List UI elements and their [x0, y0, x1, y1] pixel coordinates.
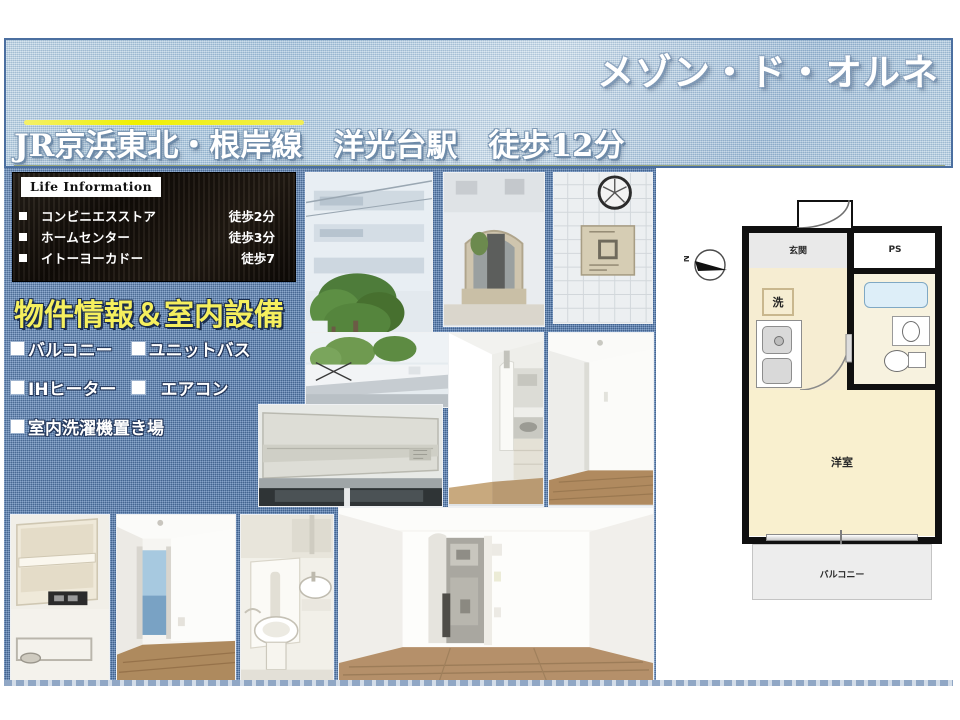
svg-text:N: N [684, 256, 691, 263]
balcony-sliding-door [766, 534, 918, 541]
photo-kitchen [448, 332, 544, 507]
checkbox-square-icon [10, 380, 25, 395]
floor-plan-panel: N 洗 [656, 168, 953, 686]
flyer-sheet: メゾン・ド・オルネ JR京浜東北・根岸線 洋光台駅 徒歩12分 空室・室内状況良… [0, 0, 960, 720]
label-balcony: バルコニー [820, 568, 865, 581]
washer-label: 洗 [773, 294, 784, 310]
wash-basin-icon [902, 321, 920, 342]
photo-balcony-view [305, 332, 453, 408]
life-information-title: Life Information [21, 177, 161, 197]
photo-wall-sign-clock [553, 172, 653, 324]
bullet-square-icon [19, 233, 27, 241]
bath-door-swing-icon [800, 334, 852, 390]
station-access-line: JR京浜東北・根岸線 洋光台駅 徒歩12分 [14, 120, 625, 165]
spec-label: 室内洗濯機置き場 [28, 414, 164, 439]
kitchen-image [449, 333, 543, 504]
bullet-square-icon [19, 254, 27, 262]
life-item-distance: 徒歩2分 [229, 206, 275, 225]
photo-building-exterior [305, 172, 433, 348]
toilet-tank-icon [908, 352, 926, 368]
list-item: ホームセンター 徒歩3分 [19, 226, 289, 247]
header-banner: メゾン・ド・オルネ JR京浜東北・根岸線 洋光台駅 徒歩12分 空室・室内状況良… [4, 38, 953, 168]
wall-sign-clock-image [554, 173, 652, 322]
entry-door-swing-icon [797, 200, 873, 228]
spec-label: ユニットバス [149, 336, 251, 361]
photo-room-with-balcony-door [116, 514, 236, 684]
life-information-box: Life Information コンビニエスストア 徒歩2分 ホームセンター … [12, 172, 296, 282]
building-exterior-image [306, 173, 432, 346]
kitchen-drain-icon [774, 336, 784, 346]
label-genkan: 玄関 [789, 244, 807, 257]
building-name: メゾン・ド・オルネ [597, 42, 939, 96]
spec-item-ih-heater: IHヒーター [10, 375, 117, 400]
spec-item-unit-bath: ユニットバス [131, 336, 251, 361]
toilet-bowl-icon [884, 350, 910, 372]
life-item-name: イトーヨーカドー [41, 248, 143, 267]
life-item-name: コンビニエスストア [41, 206, 156, 225]
living-room-wide-image [339, 508, 653, 684]
washer-shelf-image [11, 515, 109, 682]
spec-row: 室内洗濯機置き場 [10, 414, 300, 439]
entrance-archway-image [444, 173, 544, 325]
life-item-distance: 徒歩3分 [229, 227, 275, 246]
slider-center-mullion [840, 530, 842, 544]
property-spec-title: 物件情報＆室内設備 [14, 290, 284, 334]
room-balcony-door-image [117, 515, 235, 682]
checkbox-square-icon [10, 419, 25, 434]
life-item-distance: 徒歩7 [241, 248, 275, 267]
wall-bath-bottom [847, 384, 942, 390]
compass-rose-svg: N [684, 240, 732, 288]
label-yoshitsu: 洋室 [831, 454, 853, 470]
photo-entrance-archway [443, 172, 545, 327]
checkbox-square-icon [131, 380, 146, 395]
spec-label: バルコニー [28, 336, 113, 361]
bathroom-image [241, 515, 333, 681]
spec-label: IHヒーター [28, 375, 117, 400]
wall-ps-divider [847, 268, 942, 274]
balcony-view-image [306, 333, 452, 408]
kitchen-stove [762, 358, 792, 384]
bath-tub [864, 282, 928, 308]
spec-row: バルコニー ユニットバス [10, 336, 300, 361]
spec-label: エアコン [161, 375, 229, 400]
photo-hallway-room [548, 332, 654, 507]
hallway-room-image [549, 333, 653, 505]
spec-row: IHヒーター エアコン [10, 375, 300, 400]
wall-left [742, 226, 749, 544]
life-item-name: ホームセンター [41, 227, 130, 246]
bullet-square-icon [19, 212, 27, 220]
photo-bathroom-toilet-sink [240, 514, 334, 684]
list-item: コンビニエスストア 徒歩2分 [19, 205, 289, 226]
checkbox-square-icon [131, 341, 146, 356]
bottom-rule [4, 680, 953, 686]
floor-plan-drawing: 洗 玄関 PS 洋室 [742, 226, 942, 661]
photo-living-room-wide [338, 507, 654, 684]
label-ps: PS [888, 245, 901, 255]
photo-washer-shelf [10, 514, 110, 684]
washer-placement-box: 洗 [762, 288, 794, 316]
compass-icon: N [684, 240, 732, 288]
life-information-list: コンビニエスストア 徒歩2分 ホームセンター 徒歩3分 イトーヨーカドー 徒歩7 [19, 205, 289, 268]
spec-item-balcony: バルコニー [10, 336, 113, 361]
property-spec-list: バルコニー ユニットバス IHヒーター エアコン [10, 336, 300, 453]
spec-item-air-conditioner: エアコン [131, 375, 229, 400]
list-item: イトーヨーカドー 徒歩7 [19, 247, 289, 268]
spec-item-indoor-washer-space: 室内洗濯機置き場 [10, 414, 164, 439]
checkbox-square-icon [10, 341, 25, 356]
